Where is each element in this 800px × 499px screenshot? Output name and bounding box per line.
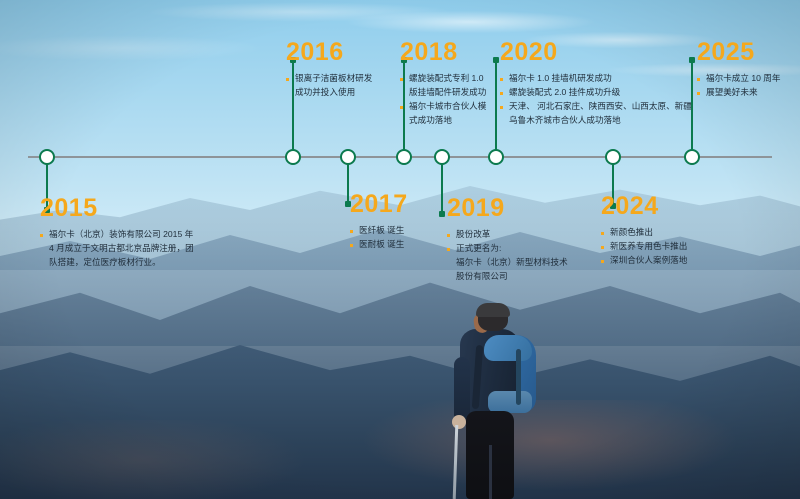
timeline-year-label-2025: 2025 [697, 40, 781, 65]
timeline-entry-2024: 2024新颜色推出新医养专用色卡推出深圳合伙人案例落地 [601, 194, 687, 268]
trekking-pole [453, 425, 459, 499]
timeline-bullet: 银离子洁菌板材研发 [286, 72, 372, 86]
timeline-bullet: 队搭建，定位医疗板材行业。 [40, 256, 194, 270]
timeline-bullet-list-2016: 银离子洁菌板材研发成功并投入使用 [286, 72, 372, 100]
backpack-strap-2 [516, 349, 521, 405]
timeline-bullet: 展望美好未来 [697, 86, 781, 100]
timeline-bullet-list-2020: 福尔卡 1.0 挂墙机研发成功螺旋装配式 2.0 挂件成功升级天津、 河北石家庄… [500, 72, 692, 128]
timeline-bullet-list-2018: 螺旋装配式专利 1.0版挂墙配件研发成功福尔卡城市合伙人模式成功落地 [400, 72, 486, 128]
timeline-stem-cap-2025 [689, 57, 695, 63]
timeline-node-2018[interactable] [396, 149, 412, 165]
timeline-year-label-2016: 2016 [286, 40, 372, 65]
timeline-node-2019[interactable] [434, 149, 450, 165]
timeline-bullet: 新颜色推出 [601, 226, 687, 240]
timeline-entry-2016: 2016银离子洁菌板材研发成功并投入使用 [286, 40, 372, 100]
timeline-entry-2018: 2018螺旋装配式专利 1.0版挂墙配件研发成功福尔卡城市合伙人模式成功落地 [400, 40, 486, 128]
timeline-bullet: 股份有限公司 [447, 270, 568, 284]
timeline-bullet: 医纤板 诞生 [350, 224, 408, 238]
timeline-node-2017[interactable] [340, 149, 356, 165]
timeline-year-label-2020: 2020 [500, 40, 692, 65]
backpack-lid [484, 335, 532, 361]
timeline-bullet: 乌鲁木齐城市合伙人成功落地 [500, 114, 692, 128]
timeline-bullet: 4 月成立于文明古都北京品牌注册，团 [40, 242, 194, 256]
timeline-bullet: 医耐板 诞生 [350, 238, 408, 252]
hiker-leg-gap [489, 445, 492, 499]
timeline-node-2016[interactable] [285, 149, 301, 165]
timeline-bullet: 天津、 河北石家庄、陕西西安、山西太原、新疆 [500, 100, 692, 114]
timeline-bullet-list-2024: 新颜色推出新医养专用色卡推出深圳合伙人案例落地 [601, 226, 687, 268]
timeline-bullet-list-2019: 股份改革正式更名为:福尔卡（北京）新型材料技术股份有限公司 [447, 228, 568, 284]
timeline-node-2020[interactable] [488, 149, 504, 165]
timeline-bullet: 福尔卡（北京）装饰有限公司 2015 年 [40, 228, 194, 242]
timeline-bullet-list-2025: 福尔卡成立 10 周年展望美好未来 [697, 72, 781, 100]
timeline-entry-2017: 2017医纤板 诞生医耐板 诞生 [350, 192, 408, 252]
timeline-entry-2020: 2020福尔卡 1.0 挂墙机研发成功螺旋装配式 2.0 挂件成功升级天津、 河… [500, 40, 692, 128]
hiker-beanie [476, 303, 510, 317]
timeline-entry-2015: 2015福尔卡（北京）装饰有限公司 2015 年4 月成立于文明古都北京品牌注册… [40, 196, 194, 270]
timeline-bullet-list-2015: 福尔卡（北京）装饰有限公司 2015 年4 月成立于文明古都北京品牌注册，团队搭… [40, 228, 194, 270]
timeline-bullet: 版挂墙配件研发成功 [400, 86, 486, 100]
timeline-entry-2025: 2025福尔卡成立 10 周年展望美好未来 [697, 40, 781, 100]
timeline-bullet: 式成功落地 [400, 114, 486, 128]
timeline-bullet: 福尔卡成立 10 周年 [697, 72, 781, 86]
timeline-bullet: 福尔卡 1.0 挂墙机研发成功 [500, 72, 692, 86]
timeline-infographic: 2015福尔卡（北京）装饰有限公司 2015 年4 月成立于文明古都北京品牌注册… [0, 0, 800, 499]
timeline-node-2024[interactable] [605, 149, 621, 165]
timeline-year-label-2017: 2017 [350, 192, 408, 217]
timeline-stem-2020 [495, 60, 497, 157]
timeline-year-label-2015: 2015 [40, 196, 194, 221]
timeline-bullet: 深圳合伙人案例落地 [601, 254, 687, 268]
timeline-bullet: 螺旋装配式专利 1.0 [400, 72, 486, 86]
timeline-bullet: 福尔卡（北京）新型材料技术 [447, 256, 568, 270]
timeline-year-label-2019: 2019 [447, 196, 568, 221]
timeline-stem-2025 [691, 60, 693, 157]
timeline-bullet: 螺旋装配式 2.0 挂件成功升级 [500, 86, 692, 100]
timeline-node-2025[interactable] [684, 149, 700, 165]
backpack-pocket [488, 391, 532, 413]
timeline-stem-cap-2020 [493, 57, 499, 63]
timeline-bullet: 新医养专用色卡推出 [601, 240, 687, 254]
timeline-bullet-list-2017: 医纤板 诞生医耐板 诞生 [350, 224, 408, 252]
timeline-bullet: 福尔卡城市合伙人模 [400, 100, 486, 114]
hiker-figure [430, 305, 560, 499]
hiker-arm [454, 357, 470, 421]
hiker-hand [452, 415, 466, 429]
timeline-year-label-2024: 2024 [601, 194, 687, 219]
timeline-bullet: 成功并投入使用 [286, 86, 372, 100]
timeline-entry-2019: 2019股份改革正式更名为:福尔卡（北京）新型材料技术股份有限公司 [447, 196, 568, 284]
timeline-stem-2019 [441, 158, 443, 214]
timeline-node-2015[interactable] [39, 149, 55, 165]
timeline-bullet: 股份改革 [447, 228, 568, 242]
timeline-year-label-2018: 2018 [400, 40, 486, 65]
timeline-stem-cap-2019 [439, 211, 445, 217]
timeline-bullet: 正式更名为: [447, 242, 568, 256]
